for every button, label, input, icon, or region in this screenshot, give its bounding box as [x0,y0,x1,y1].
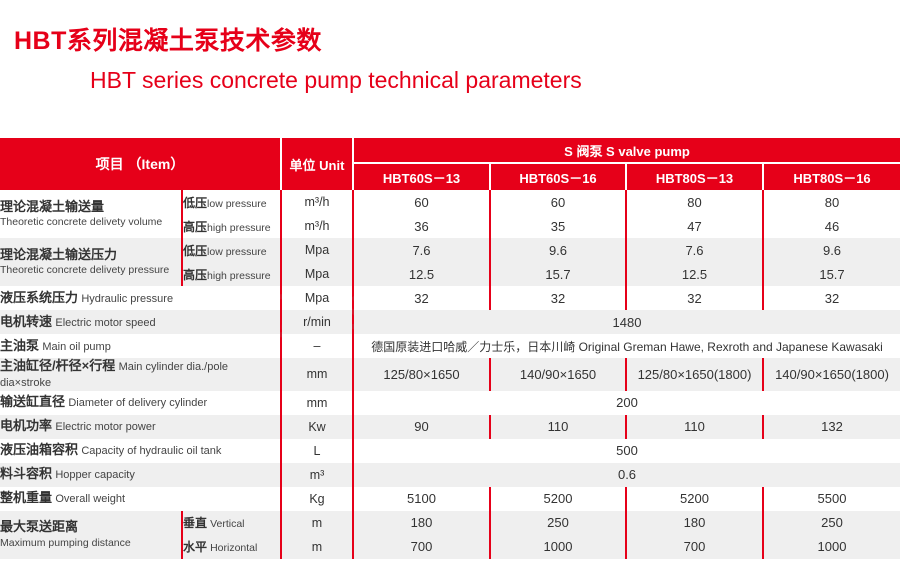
sublabel-en: low pressure [207,198,267,210]
row-label-delivery-pressure: 理论混凝土输送压力 Theoretic concrete delivety pr… [0,238,182,286]
title-block: HBT系列混凝土泵技术参数 HBT series concrete pump t… [0,0,900,94]
sublabel-cn: 高压 [183,220,207,234]
row-label-en: Hydraulic pressure [81,293,173,305]
row-label-main-oil-pump: 主油泵 Main oil pump [0,334,281,358]
row-label-cn: 电机转速 [0,314,52,329]
cell-value: 32 [353,286,490,310]
cell-value: 7.6 [353,238,490,262]
cell-value-span: 0.6 [353,463,900,487]
cell-value: 90 [353,415,490,439]
cell-value: 180 [353,511,490,535]
row-sublabel-high-pressure: 高压high pressure [182,214,281,238]
cell-value: 5200 [490,487,626,511]
cell-value: 12.5 [353,262,490,286]
row-unit: mm [281,391,353,415]
table-row: 电机功率 Electric motor power Kw 90 110 110 … [0,415,900,439]
cell-value: 125/80×1650 [353,358,490,391]
row-label-cn: 主油泵 [0,338,39,353]
cell-value: 80 [763,190,900,214]
cell-value: 5200 [626,487,763,511]
cell-value: 12.5 [626,262,763,286]
row-unit: Mpa [281,262,353,286]
header-model-4: HBT80S－16 [763,163,900,190]
row-label-cn: 料斗容积 [0,466,52,481]
row-label-cn: 液压油箱容积 [0,442,78,457]
cell-value: 9.6 [763,238,900,262]
row-label-cn: 主油缸径/杆径×行程 [0,358,115,373]
cell-value: 80 [626,190,763,214]
table-row: 料斗容积 Hopper capacity m³ 0.6 [0,463,900,487]
row-label-en: Main oil pump [42,341,110,353]
table-head: 项目 （Item） 单位 Unit S 阀泵 S valve pump HBT6… [0,138,900,190]
row-sublabel-low-pressure: 低压low pressure [182,190,281,214]
sublabel-cn: 低压 [183,244,207,258]
header-unit: 单位 Unit [281,138,353,190]
header-model-3: HBT80S－13 [626,163,763,190]
table-row: 输送缸直径 Diameter of delivery cylinder mm 2… [0,391,900,415]
cell-value: 110 [626,415,763,439]
table-row: 整机重量 Overall weight Kg 5100 5200 5200 55… [0,487,900,511]
row-label-hydraulic-pressure: 液压系统压力 Hydraulic pressure [0,286,281,310]
row-label-en: Electric motor speed [55,317,155,329]
row-unit: m³/h [281,214,353,238]
sublabel-en: high pressure [207,222,271,234]
cell-value: 15.7 [490,262,626,286]
table-row: 理论混凝土输送量 Theoretic concrete delivety vol… [0,190,900,214]
header-model-1: HBT60S－13 [353,163,490,190]
cell-value: 180 [626,511,763,535]
cell-value: 5500 [763,487,900,511]
cell-value-span: 500 [353,439,900,463]
sublabel-cn: 高压 [183,268,207,282]
cell-value: 132 [763,415,900,439]
row-label-en: Hopper capacity [55,469,135,481]
page-title-cn: HBT系列混凝土泵技术参数 [0,0,900,56]
row-label-en: Theoretic concrete delivety volume [0,216,181,229]
row-sublabel-low-pressure: 低压low pressure [182,238,281,262]
table-row: 主油泵 Main oil pump – 德国原装进口哈威／力士乐，日本川崎 Or… [0,334,900,358]
table-row: 电机转速 Electric motor speed r/min 1480 [0,310,900,334]
row-unit: mm [281,358,353,391]
row-label-max-pumping-distance: 最大泵送距离 Maximum pumping distance [0,511,182,559]
cell-value: 36 [353,214,490,238]
row-label-en: Diameter of delivery cylinder [68,397,207,409]
cell-value: 9.6 [490,238,626,262]
row-unit: Kw [281,415,353,439]
sublabel-en: high pressure [207,270,271,282]
cell-value-span: 德国原装进口哈威／力士乐，日本川崎 Original Greman Hawe, … [353,334,900,358]
sublabel-en: Horizontal [210,542,257,554]
cell-value-span: 1480 [353,310,900,334]
cell-value: 1000 [490,535,626,559]
cell-value-span: 200 [353,391,900,415]
row-unit: L [281,439,353,463]
cell-value: 46 [763,214,900,238]
table-row: 主油缸径/杆径×行程 Main cylinder dia./pole dia×s… [0,358,900,391]
table-row: 液压油箱容积 Capacity of hydraulic oil tank L … [0,439,900,463]
row-unit: m [281,535,353,559]
row-unit: m³/h [281,190,353,214]
row-label-cn: 理论混凝土输送压力 [0,247,181,263]
row-unit: m [281,511,353,535]
row-label-en: Electric motor power [55,421,155,433]
row-label-overall-weight: 整机重量 Overall weight [0,487,281,511]
row-unit: m³ [281,463,353,487]
sublabel-en: low pressure [207,246,267,258]
row-sublabel-high-pressure: 高压high pressure [182,262,281,286]
row-label-cn: 理论混凝土输送量 [0,199,181,215]
header-item: 项目 （Item） [0,138,281,190]
cell-value: 1000 [763,535,900,559]
cell-value: 60 [353,190,490,214]
row-unit: Mpa [281,286,353,310]
cell-value: 32 [490,286,626,310]
row-label-en: Capacity of hydraulic oil tank [81,445,221,457]
sublabel-cn: 垂直 [183,516,207,530]
row-label-cn: 最大泵送距离 [0,519,181,535]
cell-value: 125/80×1650(1800) [626,358,763,391]
row-label-en: Maximum pumping distance [0,537,181,550]
cell-value: 5100 [353,487,490,511]
row-label-oil-tank-capacity: 液压油箱容积 Capacity of hydraulic oil tank [0,439,281,463]
sublabel-cn: 水平 [183,540,207,554]
row-label-cn: 液压系统压力 [0,290,78,305]
row-label-motor-power: 电机功率 Electric motor power [0,415,281,439]
row-label-cn: 输送缸直径 [0,394,65,409]
row-label-en: Overall weight [55,493,125,505]
cell-value: 250 [490,511,626,535]
sublabel-cn: 低压 [183,196,207,210]
row-label-delivery-volume: 理论混凝土输送量 Theoretic concrete delivety vol… [0,190,182,238]
table-row: 液压系统压力 Hydraulic pressure Mpa 32 32 32 3… [0,286,900,310]
spec-table-wrapper: 项目 （Item） 单位 Unit S 阀泵 S valve pump HBT6… [0,138,900,559]
row-label-delivery-cylinder-dia: 输送缸直径 Diameter of delivery cylinder [0,391,281,415]
cell-value: 250 [763,511,900,535]
table-body: 理论混凝土输送量 Theoretic concrete delivety vol… [0,190,900,559]
cell-value: 47 [626,214,763,238]
row-unit: Kg [281,487,353,511]
cell-value: 60 [490,190,626,214]
table-row: 最大泵送距离 Maximum pumping distance 垂直 Verti… [0,511,900,535]
cell-value: 32 [763,286,900,310]
row-sublabel-horizontal: 水平 Horizontal [182,535,281,559]
cell-value: 110 [490,415,626,439]
row-unit: – [281,334,353,358]
page-title-en: HBT series concrete pump technical param… [0,56,900,94]
row-unit: r/min [281,310,353,334]
spec-table: 项目 （Item） 单位 Unit S 阀泵 S valve pump HBT6… [0,138,900,559]
cell-value: 7.6 [626,238,763,262]
cell-value: 140/90×1650 [490,358,626,391]
sublabel-en: Vertical [210,518,244,530]
cell-value: 700 [626,535,763,559]
cell-value: 35 [490,214,626,238]
cell-value: 140/90×1650(1800) [763,358,900,391]
row-label-cn: 电机功率 [0,418,52,433]
row-label-en: Theoretic concrete delivety pressure [0,264,181,277]
row-label-motor-speed: 电机转速 Electric motor speed [0,310,281,334]
row-unit: Mpa [281,238,353,262]
cell-value: 32 [626,286,763,310]
header-group-s-valve-pump: S 阀泵 S valve pump [353,138,900,163]
row-label-hopper-capacity: 料斗容积 Hopper capacity [0,463,281,487]
table-row: 理论混凝土输送压力 Theoretic concrete delivety pr… [0,238,900,262]
cell-value: 15.7 [763,262,900,286]
cell-value: 700 [353,535,490,559]
header-model-2: HBT60S－16 [490,163,626,190]
row-label-main-cylinder: 主油缸径/杆径×行程 Main cylinder dia./pole dia×s… [0,358,281,391]
row-sublabel-vertical: 垂直 Vertical [182,511,281,535]
row-label-cn: 整机重量 [0,490,52,505]
